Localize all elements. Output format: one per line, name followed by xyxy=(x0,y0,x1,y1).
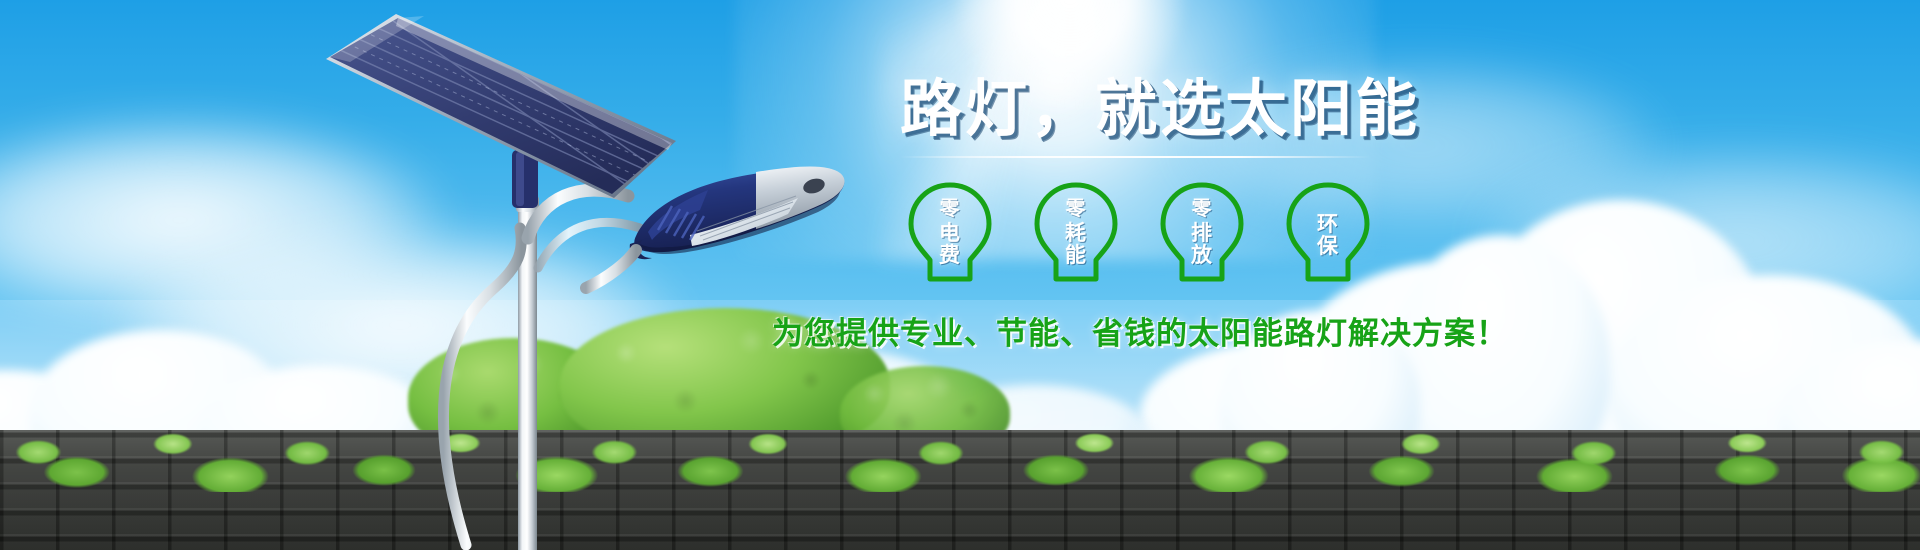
banner-headline: 路灯，就选太阳能 xyxy=(900,78,1520,140)
badge-text: 环 保 xyxy=(1317,213,1339,258)
badge-prefix: 零 xyxy=(1065,197,1087,221)
banner-copy: 路灯，就选太阳能 零 电 费 零 耗 能 xyxy=(900,78,1520,353)
badge-line1: 电 xyxy=(939,222,961,244)
badge-line1: 排 xyxy=(1191,222,1213,244)
badge-prefix: 零 xyxy=(1191,197,1213,221)
feature-badge: 零 排 放 xyxy=(1156,180,1248,284)
feature-badge-list: 零 电 费 零 耗 能 零 xyxy=(904,180,1520,284)
banner-tagline: 为您提供专业、节能、省钱的太阳能路灯解决方案！ xyxy=(772,308,1520,353)
badge-line2: 保 xyxy=(1317,235,1339,257)
feature-badge: 零 电 费 xyxy=(904,180,996,284)
badge-line2: 费 xyxy=(939,244,961,266)
solar-street-light-banner: 路灯，就选太阳能 零 电 费 零 耗 能 xyxy=(0,0,1920,550)
badge-line1: 环 xyxy=(1317,213,1339,235)
badge-line2: 放 xyxy=(1191,244,1213,266)
headline-divider xyxy=(900,156,1370,158)
badge-text: 零 排 放 xyxy=(1191,197,1213,266)
badge-text: 零 耗 能 xyxy=(1065,197,1087,266)
feature-badge: 零 耗 能 xyxy=(1030,180,1122,284)
head-connector xyxy=(586,250,636,288)
badge-prefix: 零 xyxy=(939,197,961,221)
feature-badge: 环 保 xyxy=(1282,180,1374,284)
decorative-arch xyxy=(443,228,521,545)
badge-text: 零 电 费 xyxy=(939,197,961,266)
badge-line2: 能 xyxy=(1065,244,1087,266)
badge-line1: 耗 xyxy=(1065,222,1087,244)
